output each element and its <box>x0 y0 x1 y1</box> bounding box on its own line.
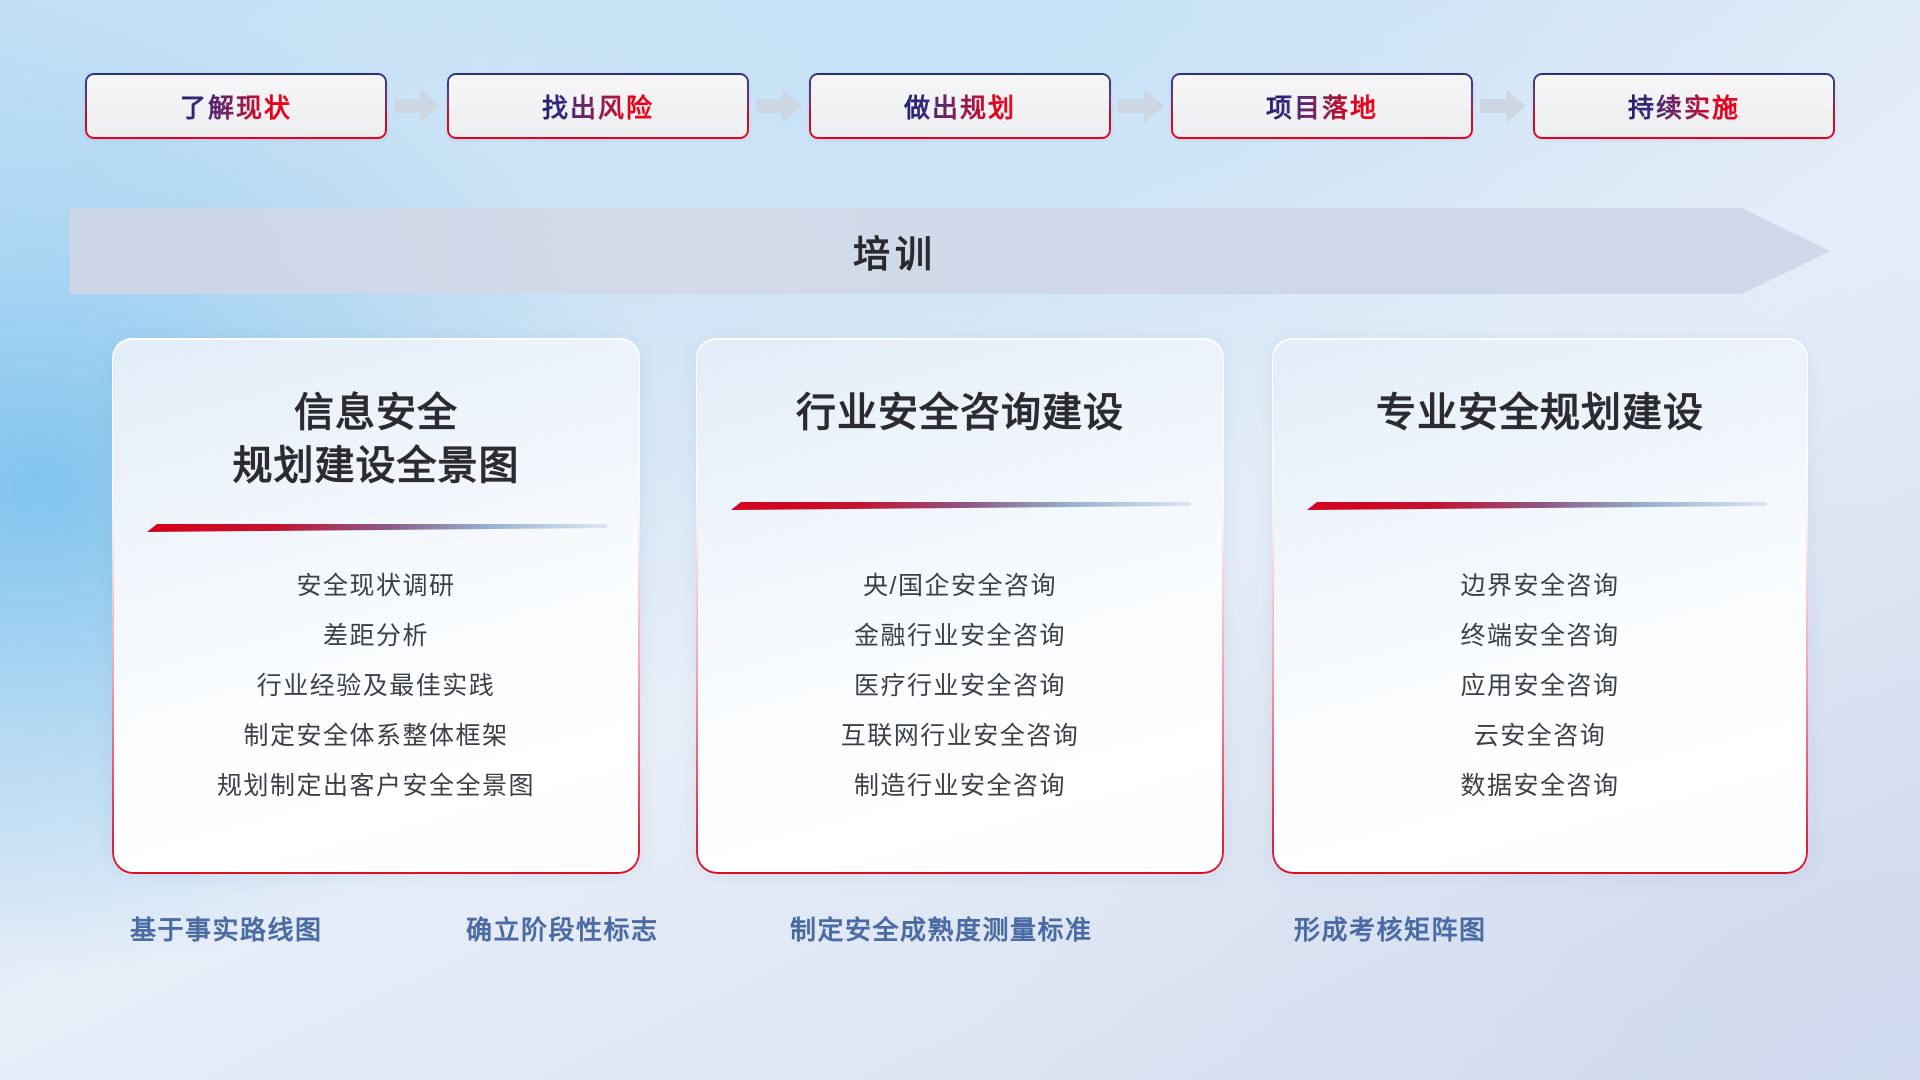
step-wrap-2: 做出规划 <box>809 73 1171 139</box>
step-wrap-4: 持续实施 <box>1533 73 1835 139</box>
card-information-security-blueprint[interactable]: 信息安全 规划建设全景图 安全现状调研 <box>112 338 640 874</box>
card-title-1: 行业安全咨询建设 <box>796 387 1124 440</box>
list-item: 互联网行业安全咨询 <box>841 711 1080 761</box>
list-item: 制定安全体系整体框架 <box>243 711 508 761</box>
step-wrap-1: 找出风险 <box>447 73 809 139</box>
list-item: 金融行业安全咨询 <box>854 611 1066 661</box>
slide-canvas: 了解现状 找出风险 做出规划 项目落地 <box>0 0 1920 1080</box>
card-industry-security-consulting[interactable]: 行业安全咨询建设 央/国企安全咨询 金 <box>696 338 1224 874</box>
step-arrow-icon-0 <box>387 73 447 139</box>
card-list-1: 央/国企安全咨询 金融行业安全咨询 医疗行业安全咨询 互联网行业安全咨询 制造行… <box>697 561 1223 811</box>
card-title-0: 信息安全 规划建设全景图 <box>233 387 520 493</box>
training-band: 培训 <box>70 208 1830 294</box>
step-pill-0[interactable]: 了解现状 <box>85 73 387 139</box>
list-item: 边界安全咨询 <box>1460 561 1619 611</box>
card-divider-icon-1 <box>731 499 1191 513</box>
training-label: 培训 <box>70 208 1830 294</box>
card-divider-icon-2 <box>1307 499 1767 513</box>
card-divider-icon-0 <box>147 521 607 535</box>
step-wrap-0: 了解现状 <box>85 73 447 139</box>
card-row: 信息安全 规划建设全景图 安全现状调研 <box>0 338 1920 874</box>
process-step-flow: 了解现状 找出风险 做出规划 项目落地 <box>0 72 1920 140</box>
step-pill-label-4: 持续实施 <box>1628 88 1740 125</box>
list-item: 云安全咨询 <box>1474 711 1607 761</box>
list-item: 行业经验及最佳实践 <box>257 661 496 711</box>
step-pill-label-3: 项目落地 <box>1266 88 1378 125</box>
caption-3: 形成考核矩阵图 <box>1294 910 1487 947</box>
list-item: 规划制定出客户安全全景图 <box>217 761 535 811</box>
card-list-0: 安全现状调研 差距分析 行业经验及最佳实践 制定安全体系整体框架 规划制定出客户… <box>113 561 639 811</box>
caption-0: 基于事实路线图 <box>130 910 323 947</box>
list-item: 数据安全咨询 <box>1460 761 1619 811</box>
step-pill-4[interactable]: 持续实施 <box>1533 73 1835 139</box>
card-list-2: 边界安全咨询 终端安全咨询 应用安全咨询 云安全咨询 数据安全咨询 <box>1273 561 1807 811</box>
caption-1: 确立阶段性标志 <box>466 910 659 947</box>
step-arrow-icon-1 <box>749 73 809 139</box>
step-arrow-icon-3 <box>1473 73 1533 139</box>
step-pill-label-2: 做出规划 <box>904 88 1016 125</box>
step-pill-3[interactable]: 项目落地 <box>1171 73 1473 139</box>
step-wrap-3: 项目落地 <box>1171 73 1533 139</box>
list-item: 终端安全咨询 <box>1460 611 1619 661</box>
step-pill-1[interactable]: 找出风险 <box>447 73 749 139</box>
caption-2: 制定安全成熟度测量标准 <box>790 910 1093 947</box>
list-item: 医疗行业安全咨询 <box>854 661 1066 711</box>
list-item: 应用安全咨询 <box>1460 661 1619 711</box>
list-item: 央/国企安全咨询 <box>863 561 1057 611</box>
list-item: 制造行业安全咨询 <box>854 761 1066 811</box>
list-item: 安全现状调研 <box>296 561 455 611</box>
list-item: 差距分析 <box>323 611 429 661</box>
card-title-2: 专业安全规划建设 <box>1376 387 1704 440</box>
card-professional-security-planning[interactable]: 专业安全规划建设 边界安全咨询 终端安 <box>1272 338 1808 874</box>
caption-row: 基于事实路线图 确立阶段性标志 制定安全成熟度测量标准 形成考核矩阵图 <box>0 910 1920 970</box>
step-pill-label-1: 找出风险 <box>542 88 654 125</box>
step-arrow-icon-2 <box>1111 73 1171 139</box>
step-pill-label-0: 了解现状 <box>180 88 292 125</box>
step-pill-2[interactable]: 做出规划 <box>809 73 1111 139</box>
